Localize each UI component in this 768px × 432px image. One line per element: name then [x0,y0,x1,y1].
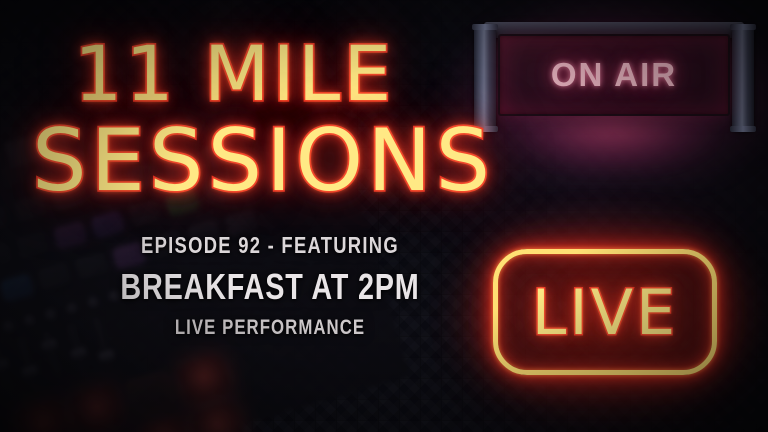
live-badge-label: LIVE [532,276,678,349]
episode-line: EPISODE 92 - FEATURING [68,232,471,259]
on-air-label: ON AIR [551,56,677,94]
on-air-sign: ON AIR [474,22,754,134]
on-air-post-right [732,26,754,130]
title-line-one: 11 MILE [74,36,394,112]
live-badge-frame: LIVE [493,249,717,375]
on-air-panel: ON AIR [498,34,730,116]
on-air-light-spill [514,126,714,170]
poster-canvas: ON AIR 11 MILE SESSIONS EPISODE 92 - FEA… [0,0,768,432]
performance-type: LIVE PERFORMANCE [68,316,471,340]
title-line-two: SESSIONS [32,118,494,204]
live-badge: LIVE [493,249,717,375]
artist-name: BREAKFAST AT 2PM [68,266,471,308]
